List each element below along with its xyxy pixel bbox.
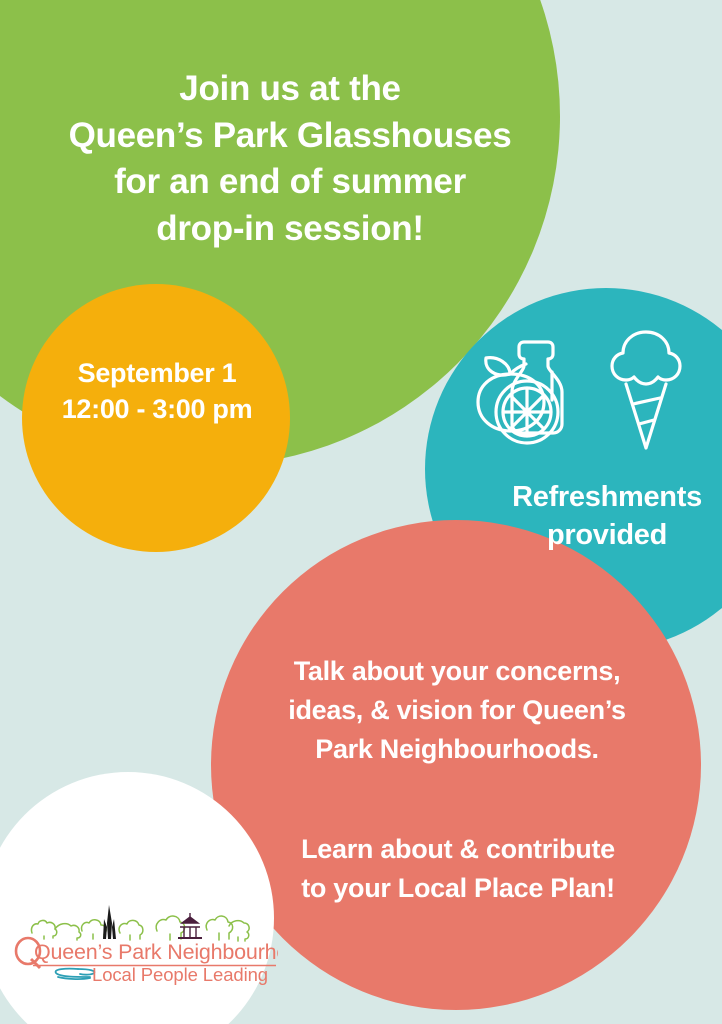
church-spire-icon	[103, 905, 116, 939]
ice-cream-cone-icon	[612, 332, 680, 448]
organisation-logo: Queen’s Park Neighbourhoods Local People…	[14, 893, 278, 985]
body-paragraph-concerns: Talk about your concerns, ideas, & visio…	[228, 652, 686, 769]
event-date-time: September 1 12:00 - 3:00 pm	[18, 355, 296, 428]
page-title: Join us at the Queen’s Park Glasshouses …	[40, 66, 540, 252]
logo-tagline-text: Local People Leading	[92, 964, 268, 985]
river-swoosh-icon	[56, 969, 95, 979]
refreshments-label: Refreshments provided	[432, 478, 722, 555]
refreshments-icon-group	[466, 330, 696, 465]
body-paragraph-place-plan: Learn about & contribute to your Local P…	[228, 830, 688, 908]
poster-canvas: Join us at the Queen’s Park Glasshouses …	[0, 0, 722, 1024]
logo-name-text: Queen’s Park Neighbourhoods	[34, 940, 278, 964]
skyline-trees-icon	[31, 916, 249, 941]
